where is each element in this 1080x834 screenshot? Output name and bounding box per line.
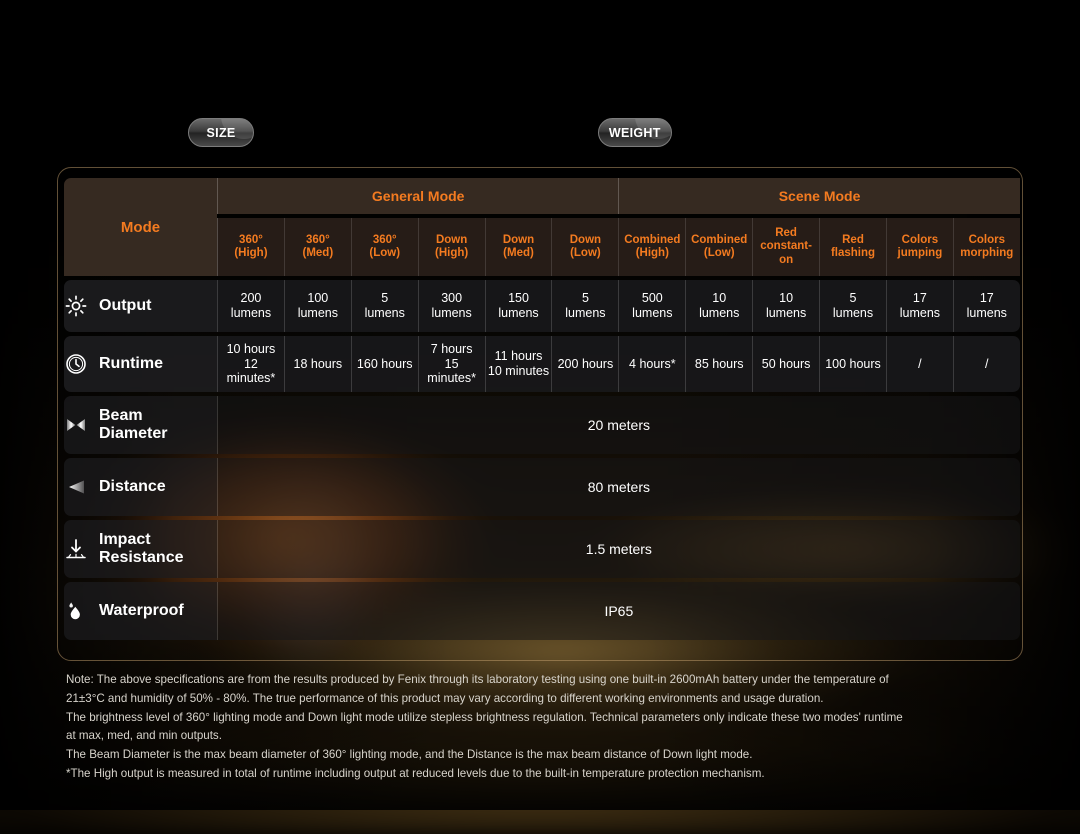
- table-cell: 500lumens: [618, 280, 685, 332]
- table-row: WaterproofIP65: [64, 582, 1020, 640]
- row-label-text: ImpactResistance: [99, 531, 184, 567]
- table-cell: 11 hours10 minutes: [485, 336, 552, 392]
- table-cell: /: [953, 336, 1020, 392]
- column-header: Redflashing: [819, 218, 886, 276]
- footnote-line: at max, med, and min outputs.: [66, 727, 1026, 746]
- row-label: Distance: [64, 458, 217, 516]
- water-drop-icon: [64, 599, 88, 623]
- table-row: Output200lumens100lumens5lumens300lumens…: [64, 280, 1020, 332]
- table-cell: 50 hours: [752, 336, 819, 392]
- table-cell: 100lumens: [284, 280, 351, 332]
- table-cell: 10lumens: [685, 280, 752, 332]
- table-cell: 200 hours: [551, 336, 618, 392]
- table-row: BeamDiameter20 meters: [64, 396, 1020, 454]
- specs-table-panel: ModeGeneral ModeScene Mode360°(High)360°…: [57, 167, 1023, 661]
- row-label: Output: [64, 280, 217, 332]
- table-cell: 150lumens: [485, 280, 552, 332]
- row-label-text: BeamDiameter: [99, 407, 167, 443]
- table-cell: 4 hours*: [618, 336, 685, 392]
- table-cell: 10 hours12 minutes*: [217, 336, 284, 392]
- row-label: BeamDiameter: [64, 396, 217, 454]
- row-label-text: Distance: [99, 478, 166, 496]
- footnote-line: 21±3°C and humidity of 50% - 80%. The tr…: [66, 690, 1026, 709]
- column-header: Down(Med): [485, 218, 552, 276]
- table-cell: 17lumens: [886, 280, 953, 332]
- technical-parameters-page: TECHNICAL PARAMETERS SIZE 1.50"x1.65"x4.…: [0, 0, 1080, 810]
- row-label: Runtime: [64, 336, 217, 392]
- column-header: Colorsjumping: [886, 218, 953, 276]
- row-label-text: Output: [99, 297, 151, 315]
- table-header-groups: ModeGeneral ModeScene Mode: [64, 178, 1020, 214]
- row-label-text: Waterproof: [99, 602, 184, 620]
- column-header: 360°(Med): [284, 218, 351, 276]
- row-label-text: Runtime: [99, 355, 163, 373]
- column-header: Down(Low): [551, 218, 618, 276]
- table-cell: 200lumens: [217, 280, 284, 332]
- mode-header: Mode: [64, 178, 217, 276]
- table-cell: 160 hours: [351, 336, 418, 392]
- specs-table: ModeGeneral ModeScene Mode360°(High)360°…: [64, 174, 1020, 644]
- row-label: Waterproof: [64, 582, 217, 640]
- footnote-line: Note: The above specifications are from …: [66, 671, 1026, 690]
- size-badge: SIZE: [188, 118, 254, 147]
- table-row: Distance80 meters: [64, 458, 1020, 516]
- beam-diameter-icon: [64, 413, 88, 437]
- table-cell: 18 hours: [284, 336, 351, 392]
- column-header: Redconstant-on: [752, 218, 819, 276]
- clock-icon: [64, 352, 88, 376]
- weight-badge: WEIGHT: [598, 118, 672, 147]
- table-cell: 5lumens: [819, 280, 886, 332]
- table-cell: /: [886, 336, 953, 392]
- footnote-line: The brightness level of 360° lighting mo…: [66, 709, 1026, 728]
- sun-icon: [64, 294, 88, 318]
- table-cell: 5lumens: [551, 280, 618, 332]
- row-value-merged: IP65: [217, 582, 1020, 640]
- table-row: Runtime10 hours12 minutes*18 hours160 ho…: [64, 336, 1020, 392]
- table-cell: 10lumens: [752, 280, 819, 332]
- impact-icon: [64, 537, 88, 561]
- table-cell: 7 hours15 minutes*: [418, 336, 485, 392]
- table-cell: 85 hours: [685, 336, 752, 392]
- group-header-general: General Mode: [217, 178, 618, 214]
- footnotes: Note: The above specifications are from …: [66, 671, 1026, 784]
- column-header: Combined(High): [618, 218, 685, 276]
- footnote-line: *The High output is measured in total of…: [66, 765, 1026, 784]
- column-header: 360°(Low): [351, 218, 418, 276]
- row-value-merged: 80 meters: [217, 458, 1020, 516]
- column-header: Combined(Low): [685, 218, 752, 276]
- column-header: Colorsmorphing: [953, 218, 1020, 276]
- row-label: ImpactResistance: [64, 520, 217, 578]
- column-header: 360°(High): [217, 218, 284, 276]
- row-value-merged: 1.5 meters: [217, 520, 1020, 578]
- row-value-merged: 20 meters: [217, 396, 1020, 454]
- column-header: Down(High): [418, 218, 485, 276]
- table-cell: 17lumens: [953, 280, 1020, 332]
- table-row: ImpactResistance1.5 meters: [64, 520, 1020, 578]
- table-cell: 5lumens: [351, 280, 418, 332]
- beam-distance-icon: [64, 475, 88, 499]
- table-cell: 100 hours: [819, 336, 886, 392]
- footnote-line: The Beam Diameter is the max beam diamet…: [66, 746, 1026, 765]
- table-cell: 300lumens: [418, 280, 485, 332]
- group-header-scene: Scene Mode: [618, 178, 1019, 214]
